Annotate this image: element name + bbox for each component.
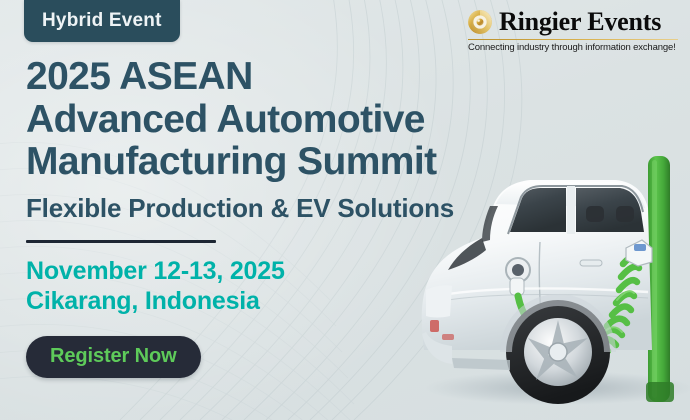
ringier-spiral-icon bbox=[466, 8, 494, 36]
ringier-events-logo: Ringier Events Connecting industry throu… bbox=[466, 8, 678, 53]
event-location: Cikarang, Indonesia bbox=[26, 286, 546, 317]
logo-tagline: Connecting industry through information … bbox=[466, 42, 678, 53]
headline-line-3: Manufacturing Summit bbox=[26, 141, 546, 184]
event-date: November 12-13, 2025 bbox=[26, 256, 546, 287]
page-title: 2025 ASEAN Advanced Automotive Manufactu… bbox=[26, 56, 546, 184]
headline-line-1: 2025 ASEAN bbox=[26, 56, 546, 99]
logo-wordmark: Ringier Events bbox=[499, 9, 661, 35]
hybrid-event-badge-label: Hybrid Event bbox=[42, 10, 162, 32]
divider-rule bbox=[26, 240, 216, 243]
headline-line-2: Advanced Automotive bbox=[26, 99, 546, 142]
subtitle: Flexible Production & EV Solutions bbox=[26, 193, 546, 224]
register-now-button[interactable]: Register Now bbox=[26, 336, 201, 378]
event-banner: Hybrid Event bbox=[0, 0, 690, 420]
banner-content: 2025 ASEAN Advanced Automotive Manufactu… bbox=[26, 56, 546, 378]
logo-divider-rule bbox=[468, 39, 678, 40]
register-now-label: Register Now bbox=[50, 345, 177, 368]
event-details: November 12-13, 2025 Cikarang, Indonesia bbox=[26, 256, 546, 317]
hybrid-event-badge: Hybrid Event bbox=[24, 0, 180, 42]
logo-row: Ringier Events bbox=[466, 8, 678, 36]
